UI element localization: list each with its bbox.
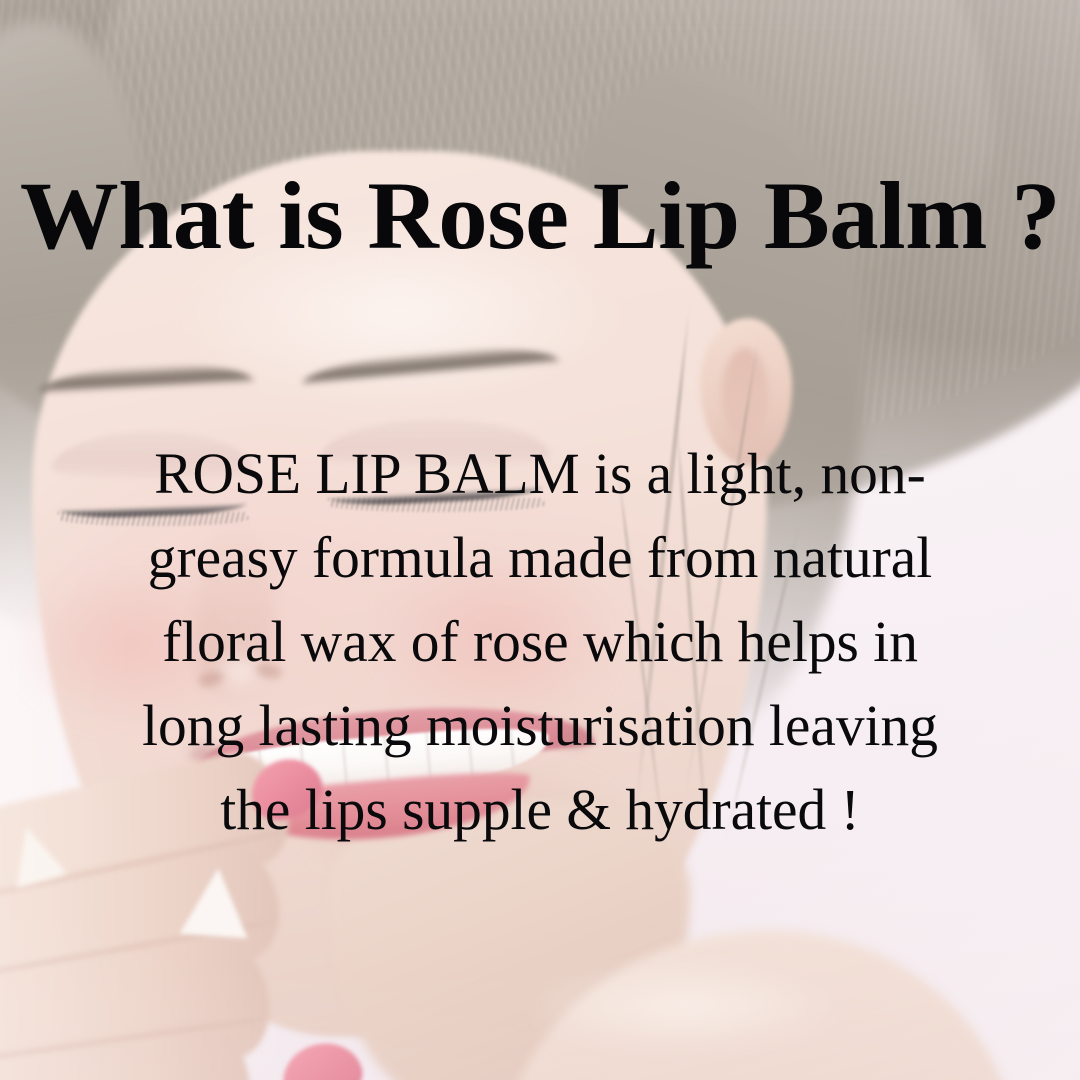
body-line: long lasting moisturisation leaving — [45, 684, 1035, 768]
infographic-canvas: What is Rose Lip Balm ? ROSE LIP BALM is… — [0, 0, 1080, 1080]
body-paragraph: ROSE LIP BALM is a light, non- greasy fo… — [45, 432, 1035, 852]
text-overlay: What is Rose Lip Balm ? ROSE LIP BALM is… — [0, 0, 1080, 1080]
body-line: floral wax of rose which helps in — [45, 600, 1035, 684]
body-line: greasy formula made from natural — [45, 516, 1035, 600]
body-line: the lips supple & hydrated ! — [45, 768, 1035, 852]
body-line: ROSE LIP BALM is a light, non- — [45, 432, 1035, 516]
page-title: What is Rose Lip Balm ? — [0, 168, 1080, 264]
